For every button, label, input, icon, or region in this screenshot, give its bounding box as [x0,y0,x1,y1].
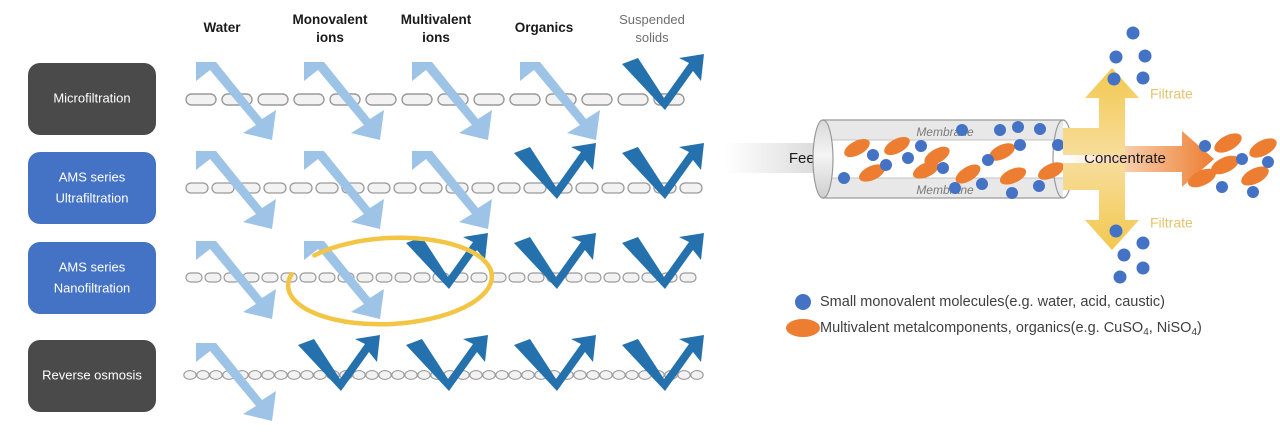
membrane-pores-ultrafiltration [186,183,702,193]
filtrate-arrow-bottom [1063,163,1139,250]
reject-arrow-monovalent-reverse-osmosis [298,335,380,391]
reject-arrow-organics-nanofiltration [514,233,596,289]
column-header-multivalent-line2: ions [422,30,450,45]
orange-ellipse-icon [786,319,820,337]
row-label-nanofiltration-line2: Nanofiltration [54,280,131,295]
filtrate-label-bottom: Filtrate [1150,215,1193,231]
column-headers: Water Monovalent ions Multivalent ions O… [203,12,684,45]
row-nanofiltration[interactable]: AMS series Nanofiltration [28,233,704,330]
column-header-suspended-line1: Suspended [619,12,685,27]
row-label-microfiltration: Microfiltration [53,90,130,105]
legend-multivalent-part1: Multivalent metalcomponents, organics(e.… [820,320,1143,336]
legend-multivalent-part3: ) [1197,320,1202,336]
legend-multivalent-part2: , NiSO [1149,320,1192,336]
reject-arrow-multivalent-reverse-osmosis [406,335,488,391]
row-microfiltration[interactable]: Microfiltration [28,54,704,140]
column-header-monovalent-line2: ions [316,30,344,45]
row-ultrafiltration[interactable]: AMS series Ultrafiltration [28,143,704,229]
legend-label-multivalent: Multivalent metalcomponents, organics(e.… [820,320,1202,338]
legend: Small monovalent molecules(e.g. water, a… [786,294,1202,338]
filtrate-arrow-top [1063,68,1139,155]
row-label-ultrafiltration-line2: Ultrafiltration [56,190,129,205]
filtrate-molecules-bottom [1110,225,1150,284]
filtration-diagram-svg: Water Monovalent ions Multivalent ions O… [0,0,1280,440]
membrane-pores-microfiltration [186,94,684,105]
row-label-ultrafiltration-line1: AMS series [59,169,126,184]
blue-circle-icon [795,294,811,310]
row-label-box-ultrafiltration[interactable] [28,152,156,224]
filtrate-label-top: Filtrate [1150,86,1193,102]
reject-arrow-organics-reverse-osmosis [514,335,596,391]
row-label-box-nanofiltration[interactable] [28,242,156,314]
reject-arrow-suspended-reverse-osmosis [622,335,704,391]
filtrate-molecules-top [1108,27,1152,86]
column-header-monovalent-line1: Monovalent [292,12,368,27]
row-label-nanofiltration-line1: AMS series [59,259,126,274]
legend-label-monovalent: Small monovalent molecules(e.g. water, a… [820,294,1165,310]
column-header-multivalent-line1: Multivalent [401,12,472,27]
membrane-module-panel: Feed Membrane Membrane [726,27,1280,284]
legend-item-monovalent: Small monovalent molecules(e.g. water, a… [795,294,1165,310]
membrane-label-bottom: Membrane [916,183,974,197]
legend-item-multivalent: Multivalent metalcomponents, organics(e.… [786,319,1202,338]
row-label-reverse-osmosis: Reverse osmosis [42,367,142,382]
row-reverse-osmosis[interactable]: Reverse osmosis [28,335,704,421]
diagram-canvas: Water Monovalent ions Multivalent ions O… [0,0,1280,440]
column-header-water: Water [203,20,241,35]
column-header-organics: Organics [515,20,574,35]
pass-arrow-water-reverse-osmosis [196,343,276,421]
column-header-suspended-line2: solids [635,30,669,45]
